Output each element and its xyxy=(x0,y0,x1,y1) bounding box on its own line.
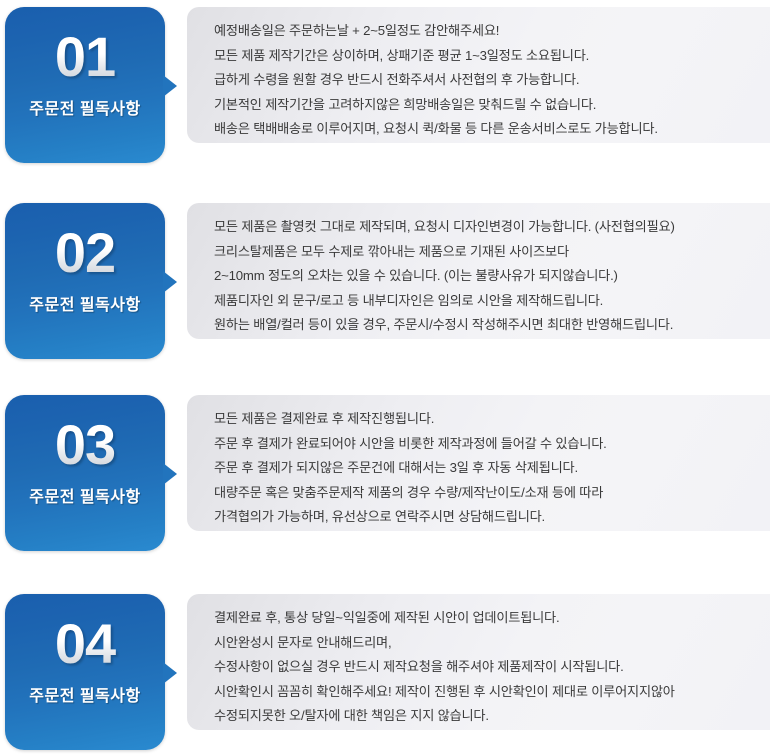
notice-text-line: 기본적인 제작기간을 고려하지않은 희망배송일은 맞춰드릴 수 없습니다. xyxy=(214,93,756,118)
notice-row: 03주문전 필독사항모든 제품은 결제완료 후 제작진행됩니다.주문 후 결제가… xyxy=(0,390,770,555)
notice-badge-01: 01주문전 필독사항 xyxy=(5,7,165,163)
notice-text-line: 제품디자인 외 문구/로고 등 내부디자인은 임의로 시안을 제작해드립니다. xyxy=(214,289,756,314)
notice-text-line: 시안확인시 꼼꼼히 확인해주세요! 제작이 진행된 후 시안확인이 제대로 이루… xyxy=(214,680,756,705)
notice-panel: 모든 제품은 결제완료 후 제작진행됩니다.주문 후 결제가 완료되어야 시안을… xyxy=(187,395,770,531)
notice-text-line: 결제완료 후, 통상 당일~익일중에 제작된 시안이 업데이트됩니다. xyxy=(214,606,756,631)
notice-panel: 예정배송일은 주문하는날 + 2~5일정도 감안해주세요!모든 제품 제작기간은… xyxy=(187,7,770,143)
callout-arrow-icon xyxy=(163,463,177,485)
notice-text-block: 모든 제품은 촬영컷 그대로 제작되며, 요청시 디자인변경이 가능합니다. (… xyxy=(214,215,756,338)
notice-text-line: 급하게 수령을 원할 경우 반드시 전화주셔서 사전협의 후 가능합니다. xyxy=(214,68,756,93)
notice-text-line: 수정되지못한 오/탈자에 대한 책임은 지지 않습니다. xyxy=(214,704,756,729)
notice-text-line: 예정배송일은 주문하는날 + 2~5일정도 감안해주세요! xyxy=(214,19,756,44)
callout-arrow-icon xyxy=(163,75,177,97)
notice-panel: 모든 제품은 촬영컷 그대로 제작되며, 요청시 디자인변경이 가능합니다. (… xyxy=(187,203,770,339)
notice-text-line: 주문 후 결제가 완료되어야 시안을 비롯한 제작과정에 들어갈 수 있습니다. xyxy=(214,432,756,457)
notice-number: 01 xyxy=(5,29,165,85)
notice-row: 04주문전 필독사항결제완료 후, 통상 당일~익일중에 제작된 시안이 업데이… xyxy=(0,589,770,754)
notice-text-line: 크리스탈제품은 모두 수제로 깎아내는 제품으로 기재된 사이즈보다 xyxy=(214,240,756,265)
notice-caption: 주문전 필독사항 xyxy=(5,483,165,507)
notice-text-line: 주문 후 결제가 되지않은 주문건에 대해서는 3일 후 자동 삭제됩니다. xyxy=(214,456,756,481)
notice-text-line: 원하는 배열/컬러 등이 있을 경우, 주문시/수정시 작성해주시면 최대한 반… xyxy=(214,313,756,338)
notice-badge-04: 04주문전 필독사항 xyxy=(5,594,165,750)
notice-panel: 결제완료 후, 통상 당일~익일중에 제작된 시안이 업데이트됩니다.시안완성시… xyxy=(187,594,770,730)
notice-text-line: 모든 제품은 촬영컷 그대로 제작되며, 요청시 디자인변경이 가능합니다. (… xyxy=(214,215,756,240)
notice-text-line: 모든 제품 제작기간은 상이하며, 상패기준 평균 1~3일정도 소요됩니다. xyxy=(214,44,756,69)
notice-caption: 주문전 필독사항 xyxy=(5,95,165,119)
callout-arrow-icon xyxy=(163,662,177,684)
notice-caption: 주문전 필독사항 xyxy=(5,291,165,315)
notice-caption: 주문전 필독사항 xyxy=(5,682,165,706)
notice-text-block: 모든 제품은 결제완료 후 제작진행됩니다.주문 후 결제가 완료되어야 시안을… xyxy=(214,407,756,530)
callout-arrow-icon xyxy=(163,271,177,293)
notice-row: 02주문전 필독사항모든 제품은 촬영컷 그대로 제작되며, 요청시 디자인변경… xyxy=(0,198,770,363)
notice-text-block: 예정배송일은 주문하는날 + 2~5일정도 감안해주세요!모든 제품 제작기간은… xyxy=(214,19,756,142)
notice-text-block: 결제완료 후, 통상 당일~익일중에 제작된 시안이 업데이트됩니다.시안완성시… xyxy=(214,606,756,729)
notice-row: 01주문전 필독사항예정배송일은 주문하는날 + 2~5일정도 감안해주세요!모… xyxy=(0,2,770,167)
notice-text-line: 모든 제품은 결제완료 후 제작진행됩니다. xyxy=(214,407,756,432)
notice-text-line: 2~10mm 정도의 오차는 있을 수 있습니다. (이는 불량사유가 되지않습… xyxy=(214,264,756,289)
notice-text-line: 수정사항이 없으실 경우 반드시 제작요청을 해주셔야 제품제작이 시작됩니다. xyxy=(214,655,756,680)
notice-text-line: 대량주문 혹은 맞춤주문제작 제품의 경우 수량/제작난이도/소재 등에 따라 xyxy=(214,481,756,506)
notice-number: 02 xyxy=(5,225,165,281)
notice-number: 04 xyxy=(5,616,165,672)
notice-badge-03: 03주문전 필독사항 xyxy=(5,395,165,551)
notice-board: 01주문전 필독사항예정배송일은 주문하는날 + 2~5일정도 감안해주세요!모… xyxy=(0,0,770,756)
notice-number: 03 xyxy=(5,417,165,473)
notice-text-line: 배송은 택배배송로 이루어지며, 요청시 퀵/화물 등 다른 운송서비스로도 가… xyxy=(214,117,756,142)
notice-text-line: 시안완성시 문자로 안내해드리며, xyxy=(214,631,756,656)
notice-text-line: 가격협의가 가능하며, 유선상으로 연락주시면 상담해드립니다. xyxy=(214,505,756,530)
notice-badge-02: 02주문전 필독사항 xyxy=(5,203,165,359)
